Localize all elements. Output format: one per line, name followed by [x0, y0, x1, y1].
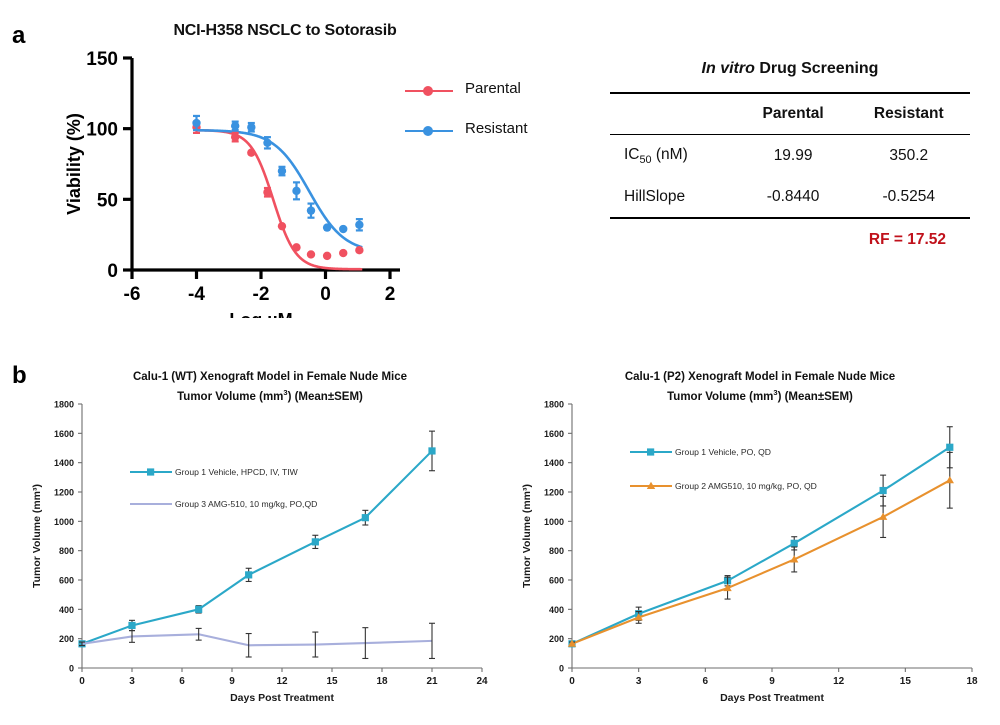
dose-data-point [247, 123, 255, 131]
legend-label-resistant: Resistant [465, 120, 528, 137]
xeno-series-line [572, 447, 950, 644]
table-title-rest: Drug Screening [755, 60, 879, 77]
xeno-xtick-label: 0 [569, 676, 575, 687]
xeno-xtick-label: 3 [129, 676, 135, 687]
xeno-xtick-label: 18 [376, 676, 388, 687]
dose-xtick-label: 0 [320, 284, 331, 305]
xeno-ytick-label: 1200 [54, 488, 74, 498]
xeno-xtick-label: 3 [636, 676, 642, 687]
xeno-data-marker [312, 538, 319, 545]
dose-data-point [339, 249, 347, 257]
xeno-xtick-label: 12 [276, 676, 288, 687]
xeno-data-marker [946, 444, 953, 451]
xeno-data-marker [946, 476, 954, 483]
dose-data-point [231, 122, 239, 130]
dose-data-point [263, 188, 271, 196]
xeno-ytick-label: 0 [69, 664, 74, 674]
dose-data-point [307, 206, 315, 214]
xenograft-p2-plot: 0200400600800100012001400160018000369121… [510, 368, 990, 713]
dose-data-point [339, 225, 347, 233]
legend-dot-parental [423, 86, 433, 96]
xeno-data-marker [791, 540, 798, 547]
xeno-ytick-label: 800 [549, 546, 564, 556]
xeno-xtick-label: 12 [833, 676, 845, 687]
dose-data-point [231, 133, 239, 141]
xeno-ytick-label: 400 [59, 605, 74, 615]
xeno-data-marker [128, 622, 135, 629]
dose-data-point [278, 167, 286, 175]
legend-dot-resistant [423, 126, 433, 136]
dose-data-point [355, 246, 363, 254]
table-col-blank [610, 93, 739, 135]
xeno-ytick-label: 600 [59, 576, 74, 586]
table-col-parental: Parental [739, 93, 848, 135]
xeno-xtick-label: 0 [79, 676, 85, 687]
dose-data-point [292, 187, 300, 195]
xeno-legend-label: Group 1 Vehicle, HPCD, IV, TIW [175, 467, 299, 477]
xeno-xtick-label: 6 [703, 676, 709, 687]
xeno-legend-label: Group 1 Vehicle, PO, QD [675, 447, 771, 457]
xeno-xtick-label: 9 [769, 676, 775, 687]
dose-xtick-label: -4 [188, 284, 205, 305]
xeno-data-marker [428, 447, 435, 454]
xeno-ytick-label: 1000 [544, 517, 564, 527]
dose-xaxis-title: Log µM [229, 310, 292, 318]
table-row-label: HillSlope [610, 177, 739, 218]
xeno-ytick-label: 800 [59, 546, 74, 556]
dose-data-point [292, 243, 300, 251]
xeno-xaxis-title: Days Post Treatment [230, 692, 334, 704]
dose-fit-curve [197, 130, 363, 269]
dose-xtick-label: -6 [124, 284, 141, 305]
xeno-ytick-label: 1000 [54, 517, 74, 527]
legend-label-parental: Parental [465, 80, 521, 97]
xeno-legend-item: Group 1 Vehicle, HPCD, IV, TIW [130, 467, 299, 477]
dose-xtick-label: -2 [253, 284, 270, 305]
table-row: IC50 (nM)19.99350.2 [610, 135, 970, 178]
xeno-ytick-label: 1800 [544, 400, 564, 410]
dose-ytick-label: 50 [97, 190, 118, 211]
xeno-legend-item: Group 2 AMG510, 10 mg/kg, PO, QD [630, 481, 817, 491]
xeno-xtick-label: 24 [476, 676, 488, 687]
xeno-ytick-label: 1600 [544, 429, 564, 439]
xeno-ytick-label: 1800 [54, 400, 74, 410]
xeno-xtick-label: 18 [966, 676, 978, 687]
table-row-label: IC50 (nM) [610, 135, 739, 178]
xeno-ytick-label: 600 [549, 576, 564, 586]
xeno-yaxis-title: Tumor Volume (mm³) [521, 484, 533, 588]
xenograft-p2-chart: Calu-1 (P2) Xenograft Model in Female Nu… [510, 368, 990, 713]
xeno-xtick-label: 15 [900, 676, 912, 687]
dose-fit-curve [197, 130, 363, 247]
xeno-legend-item: Group 1 Vehicle, PO, QD [630, 447, 771, 457]
xeno-xtick-label: 15 [326, 676, 338, 687]
drug-screening-table: In vitro Drug Screening Parental Resista… [610, 60, 970, 249]
dose-xtick-label: 2 [385, 284, 396, 305]
dose-data-point [247, 148, 255, 156]
dose-data-point [307, 250, 315, 258]
xeno-series-line [82, 634, 432, 645]
xeno-ytick-label: 1400 [544, 458, 564, 468]
xeno-legend-item: Group 3 AMG-510, 10 mg/kg, PO,QD [130, 499, 317, 509]
xenograft-wt-chart: Calu-1 (WT) Xenograft Model in Female Nu… [20, 368, 500, 713]
dose-yaxis-title: Viability (%) [64, 113, 84, 215]
xeno-xaxis-title: Days Post Treatment [720, 692, 824, 704]
xeno-legend-label: Group 3 AMG-510, 10 mg/kg, PO,QD [175, 499, 317, 509]
table-row: HillSlope-0.8440-0.5254 [610, 177, 970, 218]
xeno-series-line [82, 451, 432, 644]
xeno-ytick-label: 200 [549, 634, 564, 644]
dose-data-point [278, 222, 286, 230]
dose-data-point [323, 223, 331, 231]
xeno-xtick-label: 21 [426, 676, 438, 687]
dose-ytick-label: 150 [86, 49, 118, 70]
table-head: Parental Resistant [610, 93, 970, 135]
xeno-ytick-label: 200 [59, 634, 74, 644]
panel-label-a: a [12, 22, 25, 50]
xeno-ytick-label: 400 [549, 605, 564, 615]
dose-response-chart: NCI-H358 NSCLC to Sotorasib 050100150-6-… [60, 18, 540, 318]
table-cell-parental: -0.8440 [739, 177, 848, 218]
dose-ytick-label: 100 [86, 120, 118, 141]
xenograft-wt-plot: 0200400600800100012001400160018000369121… [20, 368, 500, 713]
xeno-data-marker [195, 606, 202, 613]
xeno-ytick-label: 1400 [54, 458, 74, 468]
dose-response-plot: 050100150-6-4-202Log µMViability (%) [60, 18, 540, 318]
table-col-resistant: Resistant [848, 93, 970, 135]
xeno-data-marker [362, 514, 369, 521]
dose-data-point [323, 252, 331, 260]
xeno-ytick-label: 1600 [54, 429, 74, 439]
xeno-ytick-label: 0 [559, 664, 564, 674]
xeno-data-marker [245, 571, 252, 578]
table-rows: IC50 (nM)19.99350.2HillSlope-0.8440-0.52… [610, 135, 970, 219]
xeno-data-marker [880, 487, 887, 494]
dose-data-point [192, 119, 200, 127]
xeno-ytick-label: 1200 [544, 488, 564, 498]
table-cell-parental: 19.99 [739, 135, 848, 178]
resistance-factor-value: RF = 17.52 [610, 231, 970, 249]
table-title: In vitro Drug Screening [610, 60, 970, 78]
dose-ytick-label: 0 [107, 261, 118, 282]
xeno-xtick-label: 6 [179, 676, 185, 687]
table-body: Parental Resistant IC50 (nM)19.99350.2Hi… [610, 92, 970, 219]
dose-data-point [355, 221, 363, 229]
xeno-yaxis-title: Tumor Volume (mm³) [31, 484, 43, 588]
table-header-row: Parental Resistant [610, 93, 970, 135]
xeno-xtick-label: 9 [229, 676, 235, 687]
table-cell-resistant: 350.2 [848, 135, 970, 178]
table-title-italic: In vitro [702, 60, 755, 77]
xeno-legend-label: Group 2 AMG510, 10 mg/kg, PO, QD [675, 481, 817, 491]
table-cell-resistant: -0.5254 [848, 177, 970, 218]
dose-data-point [263, 139, 271, 147]
